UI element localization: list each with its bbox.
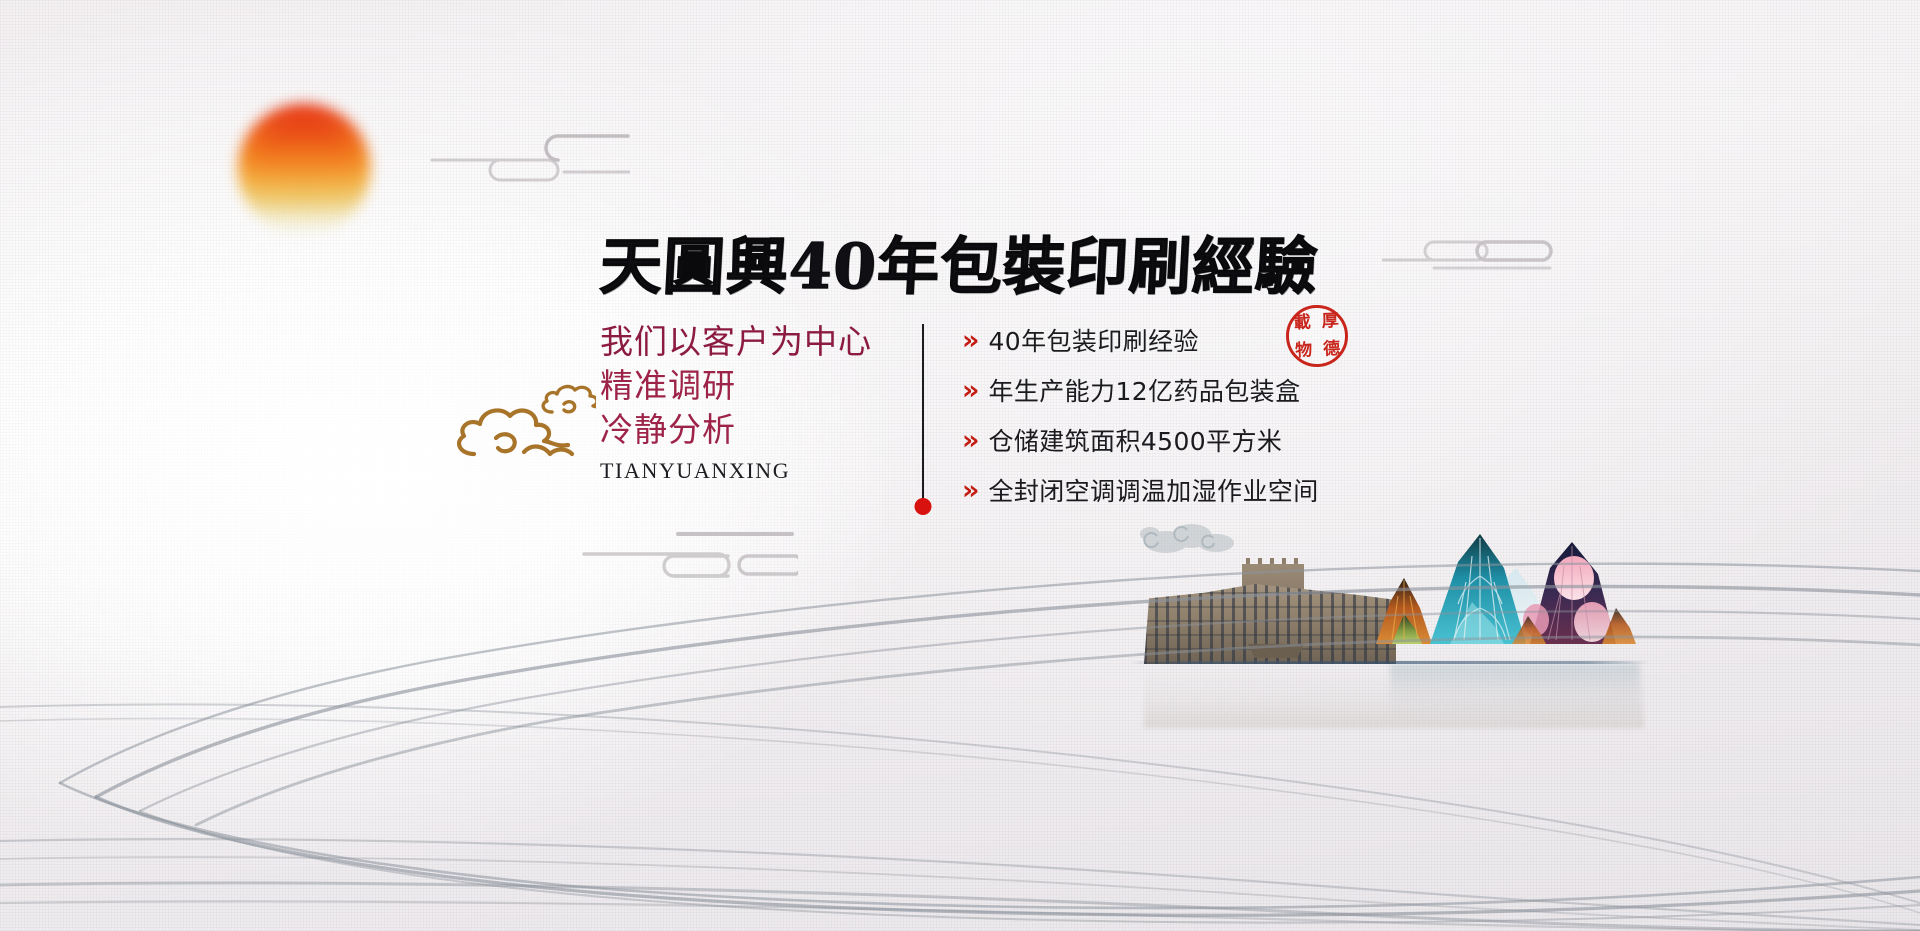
- slogan-line-2: 精准调研: [600, 364, 890, 408]
- seal-char-bottom-right: 德: [1317, 335, 1346, 364]
- feature-label: 仓储建筑面积4500平方米: [988, 422, 1282, 458]
- seal-char-top-left: 載: [1288, 308, 1317, 337]
- slogan-block: 我们以客户为中心 精准调研 冷静分析 TIANYUANXING: [600, 320, 906, 484]
- list-item: » 仓储建筑面积4500平方米: [962, 422, 1400, 458]
- divider-dot-icon: [915, 498, 932, 515]
- brand-pinyin: TIANYUANXING: [600, 458, 890, 484]
- slogan-line-3: 冷静分析: [600, 408, 890, 452]
- feature-label: 40年包装印刷经验: [988, 322, 1198, 358]
- gray-cloud-icon: [1136, 516, 1244, 562]
- content-columns: 我们以客户为中心 精准调研 冷静分析 TIANYUANXING » 40年包装印…: [600, 320, 1400, 508]
- seal-stamp: 載 厚 物 德: [1284, 303, 1349, 368]
- hero-content: 天圓興40年包裝印刷經驗 我们以客户为中心 精准调研 冷静分析 TIANYUAN…: [600, 236, 1400, 508]
- gold-cloud-icon: [448, 382, 596, 470]
- divider-line: [922, 324, 924, 500]
- chevron-right-icon: »: [962, 477, 979, 504]
- seal-char-bottom-left: 物: [1289, 336, 1318, 365]
- chevron-right-icon: »: [962, 327, 979, 354]
- mountain-reflection: [1390, 664, 1640, 718]
- list-item: » 全封闭空调调温加湿作业空间: [962, 472, 1400, 508]
- list-item: » 年生产能力12亿药品包装盒: [962, 372, 1400, 408]
- hero-banner: 天圓興40年包裝印刷經驗 我们以客户为中心 精准调研 冷静分析 TIANYUAN…: [0, 0, 1920, 931]
- feature-label: 全封闭空调调温加湿作业空间: [988, 472, 1318, 508]
- vertical-divider: [906, 320, 940, 508]
- stylized-mountains-graphic: [1376, 516, 1636, 664]
- office-building-graphic: [1144, 558, 1396, 664]
- sun-core-icon: [252, 116, 356, 208]
- chevron-right-icon: »: [962, 427, 979, 454]
- feature-label: 年生产能力12亿药品包装盒: [988, 372, 1300, 408]
- seal-char-top-right: 厚: [1316, 307, 1345, 336]
- building-entrance-canopy: [1248, 644, 1304, 658]
- slogan-line-1: 我们以客户为中心: [600, 320, 890, 364]
- chevron-right-icon: »: [962, 377, 979, 404]
- page-title: 天圓興40年包裝印刷經驗: [598, 236, 1401, 298]
